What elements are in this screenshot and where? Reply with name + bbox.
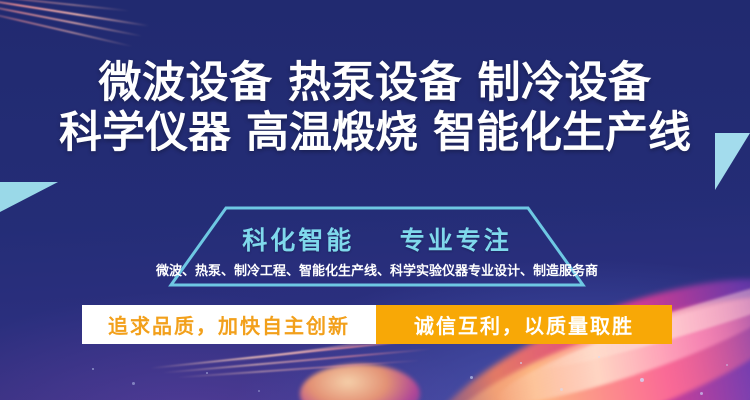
sparkle-dot: [132, 382, 135, 385]
slogan-right: 诚信互利，以质量取胜: [376, 305, 672, 344]
sparkle-dot: [700, 392, 703, 395]
sparkle-dot: [258, 390, 260, 392]
sparkle-dot: [92, 368, 94, 370]
sparkle-dot: [640, 378, 644, 382]
sub-banner-description: 微波、热泵、制冷工程、智能化生产线、科学实验仪器专业设计、制造服务商: [156, 260, 598, 279]
sparkle-dot: [726, 364, 728, 366]
slogan-left: 追求品质，加快自主创新: [82, 305, 376, 344]
sparkle-dot: [206, 372, 208, 374]
headline-block: 微波设备 热泵设备 制冷设备 科学仪器 高温煅烧 智能化生产线: [0, 62, 750, 156]
slogan-bar-group: 追求品质，加快自主创新 诚信互利，以质量取胜: [82, 305, 672, 344]
sparkle-dot: [470, 376, 473, 379]
headline-line-2: 科学仪器 高温煅烧 智能化生产线: [0, 112, 750, 156]
sub-banner-title: 科化智能 专业专注: [168, 221, 586, 257]
sparkle-dot: [598, 356, 600, 358]
sub-banner-frame: 科化智能 专业专注 微波、热泵、制冷工程、智能化生产线、科学实验仪器专业设计、制…: [168, 205, 586, 291]
promotional-banner: 微波设备 热泵设备 制冷设备 科学仪器 高温煅烧 智能化生产线 科化智能 专业专…: [0, 0, 750, 400]
sub-title-left: 科化智能: [242, 226, 354, 255]
sub-title-right: 专业专注: [400, 226, 512, 255]
triangle-accent-left-icon: [0, 182, 58, 212]
sparkle-dot: [520, 362, 522, 364]
sparkle-dot: [560, 388, 563, 391]
headline-line-1: 微波设备 热泵设备 制冷设备: [0, 62, 750, 106]
